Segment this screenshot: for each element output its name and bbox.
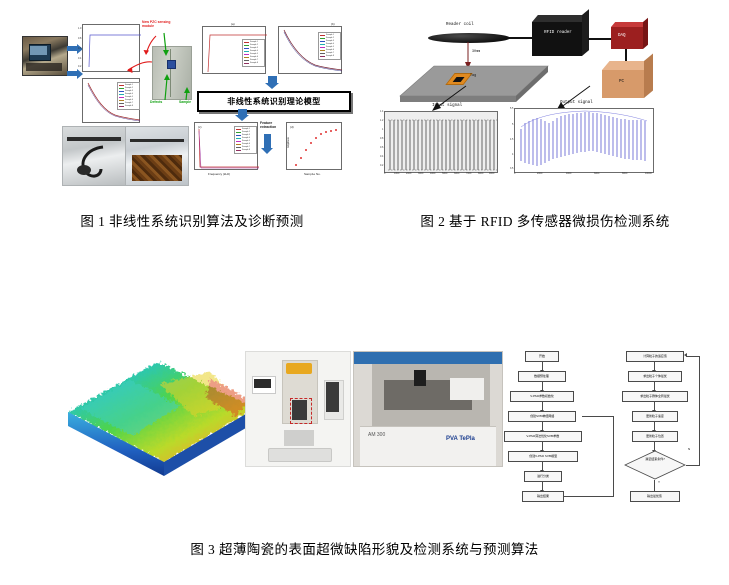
fc-left-text-6: 进行分类 (537, 475, 549, 478)
equipment-photo-plasma-system: AM 300 PVA TePla (353, 351, 503, 467)
plot-f1-c: (c) Sample 1 Sample 2 Sample 3 Sample 4 … (194, 122, 258, 170)
fc-left-text-0: 开始 (539, 355, 545, 358)
fc-right-node-2: 求出粒子群体全局最优 (622, 391, 688, 402)
label-machine-brand: AM 300 (368, 432, 385, 438)
wire-reader-daq (588, 38, 612, 40)
figure-3-caption: 图 3 超薄陶瓷的表面超微缺陷形貌及检测系统与预测算法 (0, 538, 729, 558)
xlabel-f1-d: Samp1e No. (304, 172, 321, 176)
red-arrows (122, 32, 162, 87)
label-sensing-module: New PZC sensing module (142, 21, 176, 29)
fc-right-arrow-0 (654, 362, 655, 370)
fc-left-text-7: 输出结果 (537, 495, 549, 498)
fc-left-node-5: 创建V-PSO SVM模型 (508, 451, 578, 462)
fc-no-into-top (686, 356, 700, 357)
surface-topography-plot (60, 350, 260, 490)
fc-left-arrow-0 (542, 362, 543, 370)
fc-left-text-1: 数据预处理 (535, 375, 550, 378)
fc-left-arrow-1 (542, 382, 543, 390)
xlabel-f1-c: Frequency (kHz) (208, 172, 230, 176)
lab-photo-right (125, 126, 189, 186)
fc-left-arrow-2 (542, 402, 543, 410)
arrow-feature-extraction (264, 134, 271, 148)
fc-right-decision-text: 满足结束条件? (624, 458, 686, 462)
specimen-plate (396, 64, 556, 110)
plot-f1-d: (d) Amplitude (286, 122, 342, 170)
figure-2-image: Reader coil RFID reader DAQ PC 30mm Tag (380, 8, 710, 193)
nonlinear-model-text: 非线性系统识别理论模型 (227, 96, 321, 107)
green-arrow-defects (158, 70, 172, 102)
label-rfid-reader: RFID reader (542, 30, 574, 36)
plot-output-signal: 5.5 5 4.5 4 3.5 0 2000 4000 6000 8000 10… (514, 108, 654, 173)
legend-f1-a: Sample 1 Sample 2 Sample 3 Sample 4 Samp… (242, 39, 265, 67)
ylabel-f1-d: Amplitude (287, 137, 290, 148)
fc-no-right (686, 465, 700, 466)
fc-right-text-1: 求出粒子个体最优 (643, 375, 667, 378)
fc-right-text-2: 求出粒子群体全局最优 (640, 395, 669, 398)
plot-f1-a: (a) Sample 1 Sample 2 Sample 3 Sample 4 … (202, 26, 266, 74)
label-machine-maker: PVA TePla (446, 436, 475, 442)
legend-f1-c: Sample 1 Sample 2 Sample 3 Sample 4 Samp… (234, 126, 257, 154)
fc-left-text-4: V-PSO算法优化SVM参数 (527, 435, 560, 438)
rfid-reader-box (532, 22, 582, 56)
fc-right-text-6: 输出最优值 (648, 495, 663, 498)
fc-right-arrow-1 (654, 382, 655, 390)
lab-photo-left (62, 126, 126, 186)
fc-right-node-3: 更新粒子速度 (632, 411, 678, 422)
figure-3-image: AM 300 PVA TePla 开始 数据预处理 V-PSO参数初始化 创建S… (0, 345, 729, 505)
fc-left-text-2: V-PSO参数初始化 (530, 395, 554, 398)
output-signal-trace (515, 109, 655, 174)
nonlinear-model-box: 非线性系统识别理论模型 (197, 91, 351, 112)
arrow-blue-lower (67, 71, 77, 76)
plot-input-signal: 1.4 1.2 1 0.8 0.6 0.4 0.2 0 1000 2000 30… (384, 111, 498, 173)
input-signal-trace (385, 112, 499, 174)
fc-right-arrow-3 (654, 422, 655, 430)
legend-f1-b: Sample 1 Sample 2 Sample 3 Sample 4 Samp… (318, 32, 341, 60)
figure-1-caption: 图 1 非线性系统识别算法及诊断预测 (22, 210, 362, 230)
fc-no-up (699, 356, 700, 466)
fc-right-node-4: 更新粒子位置 (632, 431, 678, 442)
wire-coil-reader (508, 37, 534, 39)
fc-left-node-7: 输出结果 (522, 491, 564, 502)
fc-right-arrow-2 (654, 402, 655, 410)
fc-label-no: N (688, 447, 690, 451)
plot-f1-b: (b) Sample 1 Sample 2 Sample 3 Sample 4 … (278, 26, 342, 74)
fc-connector-back-left (564, 496, 614, 497)
fc-left-node-0: 开始 (525, 351, 559, 362)
fc-right-node-1: 求出粒子个体最优 (628, 371, 682, 382)
fc-left-node-1: 数据预处理 (518, 371, 566, 382)
fc-left-arrow-5 (542, 462, 543, 470)
fc-left-node-3: 创建SVM神经网络 (508, 411, 576, 422)
arrow-feature-extraction-head (261, 148, 273, 154)
fc-right-decision: 满足结束条件? (624, 450, 686, 480)
fc-connector-right-down (613, 416, 614, 497)
fc-left-node-6: 进行分类 (524, 471, 562, 482)
equipment-photo-probe-station (245, 351, 351, 467)
arrow-down-from-model-head (235, 115, 249, 121)
daq-box (611, 27, 643, 49)
figure-2-caption: 图 2 基于 RFID 多传感器微损伤检测系统 (380, 210, 710, 230)
fc-left-arrow-6 (542, 482, 543, 490)
green-arrow-sample (182, 86, 194, 102)
label-pc: PC (619, 80, 624, 84)
label-feature-extraction: Feature extraction (260, 121, 282, 129)
fc-right-text-4: 更新粒子位置 (646, 435, 664, 438)
fc-left-text-3: 创建SVM神经网络 (530, 415, 554, 418)
arrow-down-to-model-head (265, 83, 279, 89)
title-input-signal: Input signal (432, 104, 462, 108)
label-tag: Tag (470, 74, 476, 78)
label-gap-30mm: 30mm (472, 50, 480, 54)
label-daq: DAQ (618, 34, 626, 38)
scatter-points (287, 123, 343, 171)
green-arrow-module (158, 32, 172, 58)
fc-left-node-2: V-PSO参数初始化 (510, 391, 574, 402)
fc-left-text-5: 创建V-PSO SVM模型 (529, 455, 557, 458)
fc-left-node-4: V-PSO算法优化SVM参数 (504, 431, 582, 442)
arrow-down-to-model (268, 76, 277, 83)
fc-right-text-3: 更新粒子速度 (646, 415, 664, 418)
fc-right-arrow-4 (654, 442, 655, 450)
figure-1-image: 1.0 0.8 0.6 0.4 0.2 Sample 1 Sample 2 Sa… (22, 8, 362, 193)
instrument-photo (22, 36, 68, 76)
fc-left-arrow-3 (542, 422, 543, 430)
title-output-signal: Output signal (560, 101, 593, 105)
fc-right-text-0: 计算粒子的适应值 (643, 355, 667, 358)
fc-right-node-0: 计算粒子的适应值 (626, 351, 684, 362)
fc-left-arrow-4 (542, 442, 543, 450)
label-reader-coil: Reader coil (446, 23, 474, 27)
fc-connector-right-out (582, 416, 614, 417)
fc-label-yes: Y (658, 480, 660, 484)
fc-right-node-6: 输出最优值 (630, 491, 680, 502)
arrow-blue-upper (67, 46, 77, 51)
pc-box (602, 70, 644, 98)
